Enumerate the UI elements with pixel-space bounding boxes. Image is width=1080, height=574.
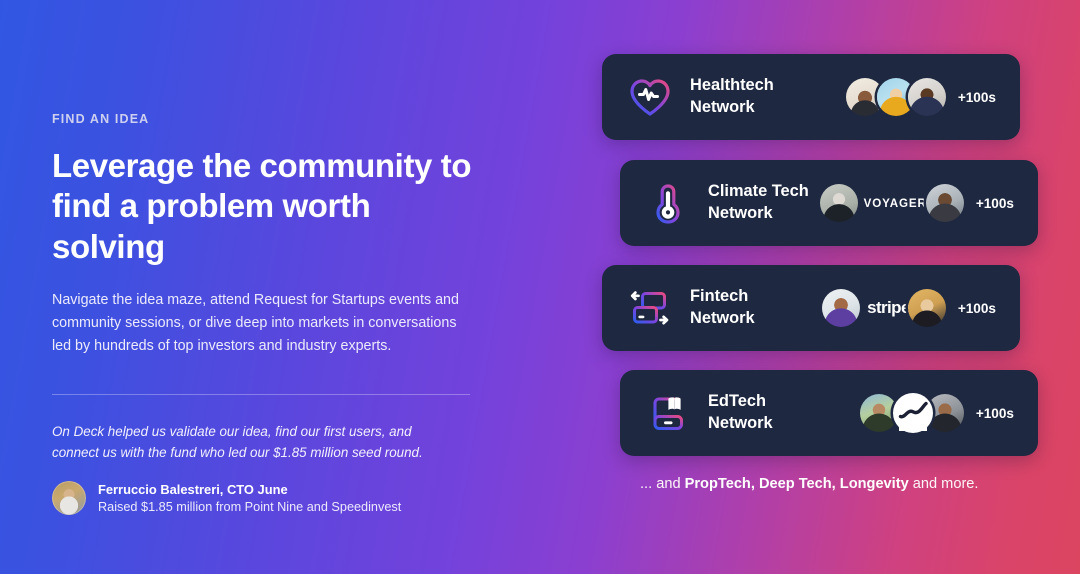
laptop-book-icon bbox=[645, 390, 691, 436]
avatar bbox=[820, 184, 858, 222]
heart-pulse-icon bbox=[627, 74, 673, 120]
brand-logo-voyager: VOYAGER bbox=[864, 197, 927, 210]
testimonial-author: Ferruccio Balestreri, CTO June bbox=[98, 482, 401, 497]
more-suffix: and more. bbox=[909, 476, 979, 492]
card-members: VOYAGER +100s bbox=[820, 184, 1014, 222]
card-members: stripe +100s bbox=[822, 289, 996, 327]
member-count-badge: +100s bbox=[976, 196, 1014, 211]
member-count-badge: +100s bbox=[958, 90, 996, 105]
card-title: EdTech Network bbox=[708, 391, 773, 435]
card-title: Healthtech Network bbox=[690, 75, 774, 119]
avatar bbox=[52, 481, 86, 515]
divider bbox=[52, 394, 470, 395]
testimonial-author-detail: Raised $1.85 million from Point Nine and… bbox=[98, 500, 401, 514]
member-count-badge: +100s bbox=[958, 301, 996, 316]
wave-circle-logo-icon bbox=[893, 393, 933, 433]
more-prefix: ... and bbox=[640, 476, 685, 492]
network-card-edtech[interactable]: EdTech Network +100s bbox=[620, 370, 1038, 456]
avatar bbox=[908, 289, 946, 327]
brand-logo-stripe: stripe bbox=[867, 298, 910, 318]
avatar bbox=[908, 78, 946, 116]
network-card-fintech[interactable]: Fintech Network stripe +100s bbox=[602, 265, 1020, 351]
card-title: Fintech Network bbox=[690, 286, 755, 330]
more-bold-list: PropTech, Deep Tech, Longevity bbox=[685, 476, 909, 492]
card-members: +100s bbox=[860, 393, 1014, 433]
intro-section: FIND AN IDEA Leverage the community to f… bbox=[52, 112, 482, 515]
testimonial-quote: On Deck helped us validate our idea, fin… bbox=[52, 422, 462, 464]
member-count-badge: +100s bbox=[976, 406, 1014, 421]
thermometer-icon bbox=[645, 180, 691, 226]
card-title: Climate Tech Network bbox=[708, 181, 809, 225]
eyebrow-label: FIND AN IDEA bbox=[52, 112, 482, 126]
avatar bbox=[822, 289, 860, 327]
page-title: Leverage the community to find a problem… bbox=[52, 146, 477, 267]
testimonial-attribution: Ferruccio Balestreri, CTO June Raised $1… bbox=[52, 481, 482, 515]
body-paragraph: Navigate the idea maze, attend Request f… bbox=[52, 289, 464, 358]
card-members: +100s bbox=[846, 78, 996, 116]
payment-cards-transfer-icon bbox=[627, 285, 673, 331]
network-card-healthtech[interactable]: Healthtech Network +100s bbox=[602, 54, 1020, 140]
network-card-climate-tech[interactable]: Climate Tech Network VOYAGER +100s bbox=[620, 160, 1038, 246]
additional-networks-text: ... and PropTech, Deep Tech, Longevity a… bbox=[640, 474, 985, 496]
avatar bbox=[926, 184, 964, 222]
